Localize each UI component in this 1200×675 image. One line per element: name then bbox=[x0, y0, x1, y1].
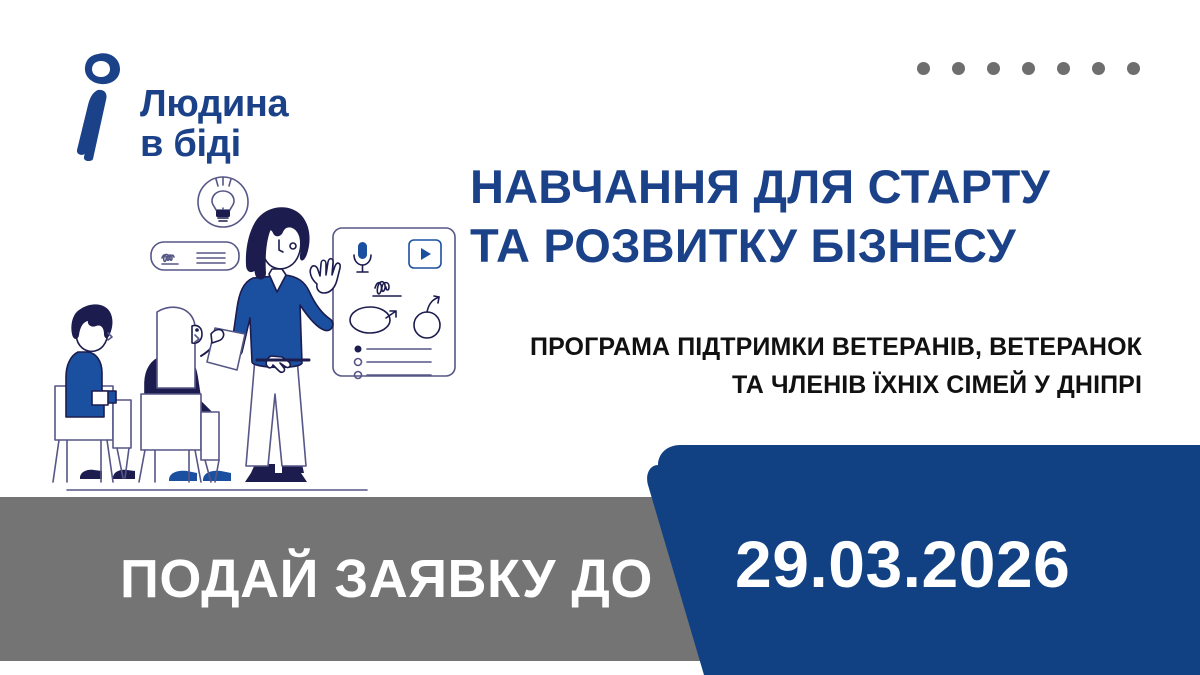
person-figure-logo-icon bbox=[68, 50, 130, 162]
microphone-icon bbox=[354, 242, 371, 272]
logo-wordmark: Людина в біді bbox=[140, 50, 288, 165]
poster-root: Людина в біді bbox=[0, 0, 1200, 675]
dot-icon bbox=[1127, 62, 1140, 75]
deadline-date: 29.03.2026 bbox=[735, 452, 1070, 675]
dot-icon bbox=[987, 62, 1000, 75]
page-title: НАВЧАННЯ ДЛЯ СТАРТУ ТА РОЗВИТКУ БІЗНЕСУ bbox=[470, 157, 1150, 275]
organization-logo: Людина в біді bbox=[68, 50, 288, 165]
whiteboard bbox=[333, 228, 455, 379]
business-training-seminar-illustration bbox=[45, 160, 475, 505]
attendee-center-figure bbox=[139, 307, 245, 482]
cta-label: ПОДАЙ ЗАЯВКУ ДО bbox=[120, 497, 653, 661]
lightbulb-icon bbox=[198, 177, 248, 227]
note-bar-icon bbox=[151, 242, 239, 270]
dot-icon bbox=[1057, 62, 1070, 75]
play-button-icon bbox=[409, 240, 441, 268]
decorative-dots bbox=[917, 62, 1140, 75]
dot-icon bbox=[1092, 62, 1105, 75]
dot-icon bbox=[1022, 62, 1035, 75]
dot-icon bbox=[917, 62, 930, 75]
presenter-figure bbox=[231, 207, 340, 482]
page-subtitle: ПРОГРАМА ПІДТРИМКИ ВЕТЕРАНІВ, ВЕТЕРАНОК … bbox=[442, 328, 1142, 404]
dot-icon bbox=[952, 62, 965, 75]
attendee-left-figure bbox=[53, 304, 135, 482]
